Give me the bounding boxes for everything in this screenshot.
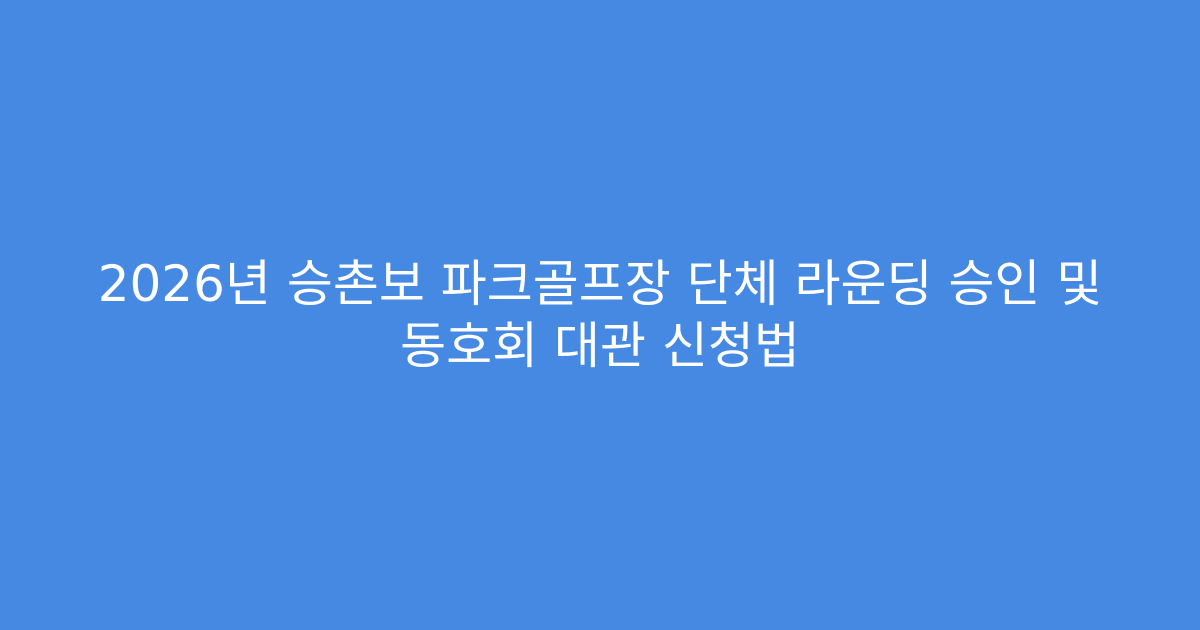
title-line-1: 2026년 승촌보 파크골프장 단체 라운딩 승인 및 <box>70 253 1130 315</box>
page-title: 2026년 승촌보 파크골프장 단체 라운딩 승인 및 동호회 대관 신청법 <box>70 253 1130 377</box>
title-line-2: 동호회 대관 신청법 <box>70 315 1130 377</box>
thumbnail-card: 2026년 승촌보 파크골프장 단체 라운딩 승인 및 동호회 대관 신청법 <box>0 0 1200 630</box>
